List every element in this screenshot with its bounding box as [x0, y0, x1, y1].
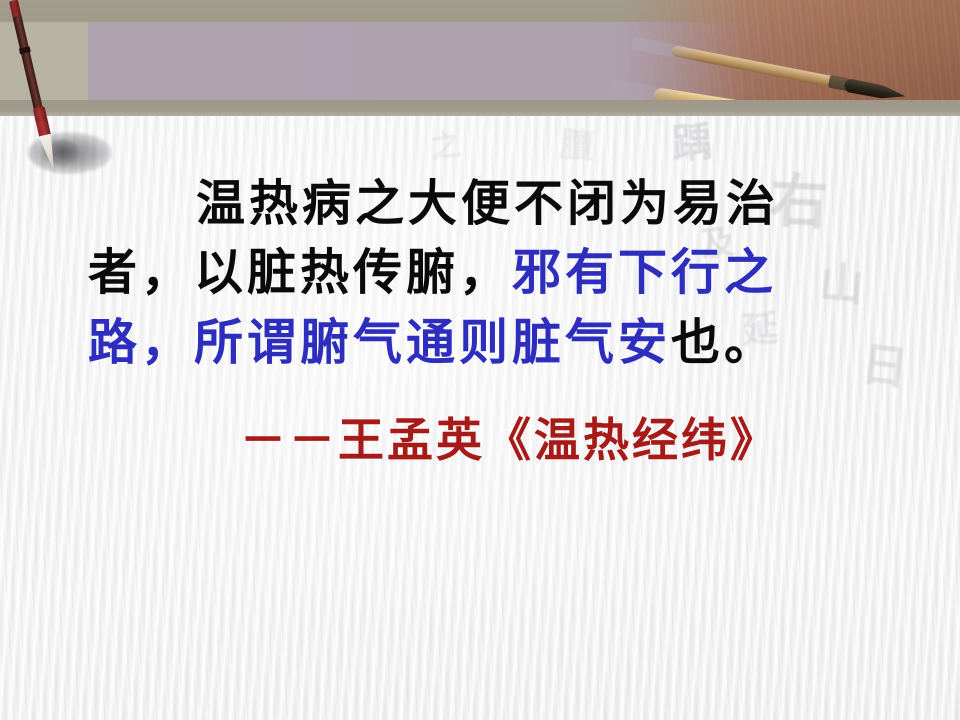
quote-attribution: －－王孟英《温热经纬》 [240, 404, 779, 470]
quote-segment-highlight: 邪有下行之 [512, 243, 777, 301]
header-band [0, 0, 960, 116]
quote-segment: 温热病之大便不闭为易治 [196, 174, 779, 232]
band-tan-lower [0, 100, 960, 116]
quote-line-2: 者，以脏热传腑，邪有下行之 [88, 248, 777, 297]
quote-line-1: 温热病之大便不闭为易治 [196, 179, 779, 228]
quote-segment: 者，以脏热传腑， [88, 243, 512, 301]
slide-canvas: 之 膻 踽 右 及 山 延 日 [0, 0, 960, 720]
quote-line-3: 路，所谓腑气通则脏气安也。 [88, 318, 777, 367]
quote-segment-highlight: 路，所谓腑气通则脏气安 [88, 313, 671, 371]
quote-segment: 也。 [671, 313, 777, 371]
